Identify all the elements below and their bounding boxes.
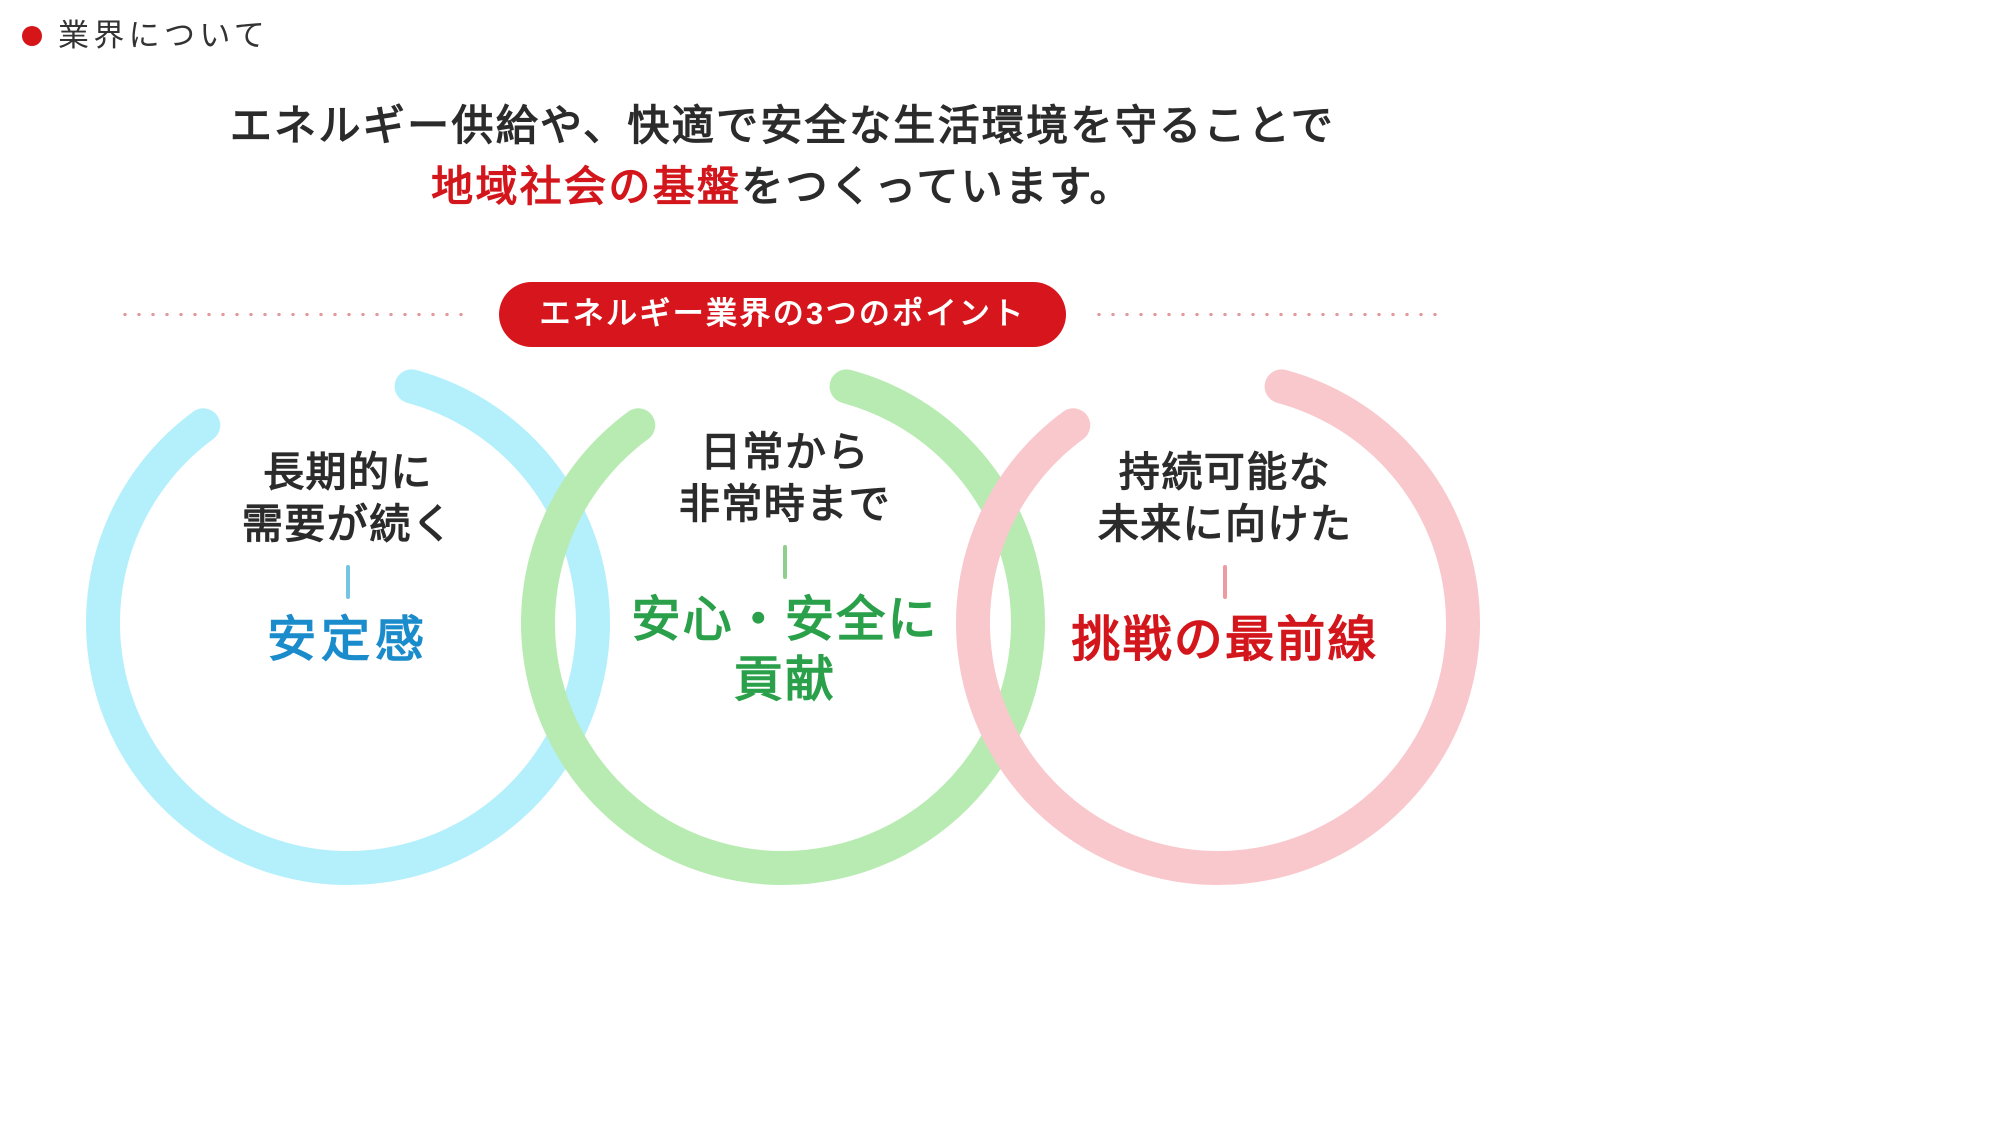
eyebrow-label: 業界について	[58, 20, 269, 51]
point-divider	[346, 565, 350, 599]
point-card-safety: 日常から 非常時まで 安心・安全に 貢献	[620, 426, 950, 710]
point-heading: 持続可能な 未来に向けた	[1060, 446, 1390, 551]
three-points-diagram: 長期的に 需要が続く 安定感 日常から 非常時まで 安心・安全に 貢献 持続可能…	[0, 318, 1565, 918]
headline-line-1: エネルギー供給や、快適で安全な生活環境を守ることで	[0, 96, 1565, 157]
point-keyword: 安定感	[183, 611, 513, 671]
dotted-rule-left	[118, 313, 473, 316]
point-card-stability: 長期的に 需要が続く 安定感	[183, 446, 513, 671]
point-keyword: 安心・安全に 貢献	[620, 591, 950, 711]
point-keyword: 挑戦の最前線	[1060, 611, 1390, 671]
bullet-dot-icon	[22, 26, 42, 46]
slide-canvas: 業界について エネルギー供給や、快適で安全な生活環境を守ることで 地域社会の基盤…	[0, 0, 2000, 1125]
dotted-rule-right	[1092, 313, 1447, 316]
point-card-challenge: 持続可能な 未来に向けた 挑戦の最前線	[1060, 446, 1390, 671]
eyebrow: 業界について	[22, 20, 269, 51]
headline-line-2: 地域社会の基盤をつくっています。	[0, 157, 1565, 218]
point-divider	[1223, 565, 1227, 599]
headline-line-2-rest: をつくっています。	[741, 163, 1134, 210]
point-heading: 日常から 非常時まで	[620, 426, 950, 531]
headline-accent: 地域社会の基盤	[431, 163, 741, 210]
point-divider	[783, 545, 787, 579]
point-heading: 長期的に 需要が続く	[183, 446, 513, 551]
page-title: エネルギー供給や、快適で安全な生活環境を守ることで 地域社会の基盤をつくっていま…	[0, 96, 1565, 218]
